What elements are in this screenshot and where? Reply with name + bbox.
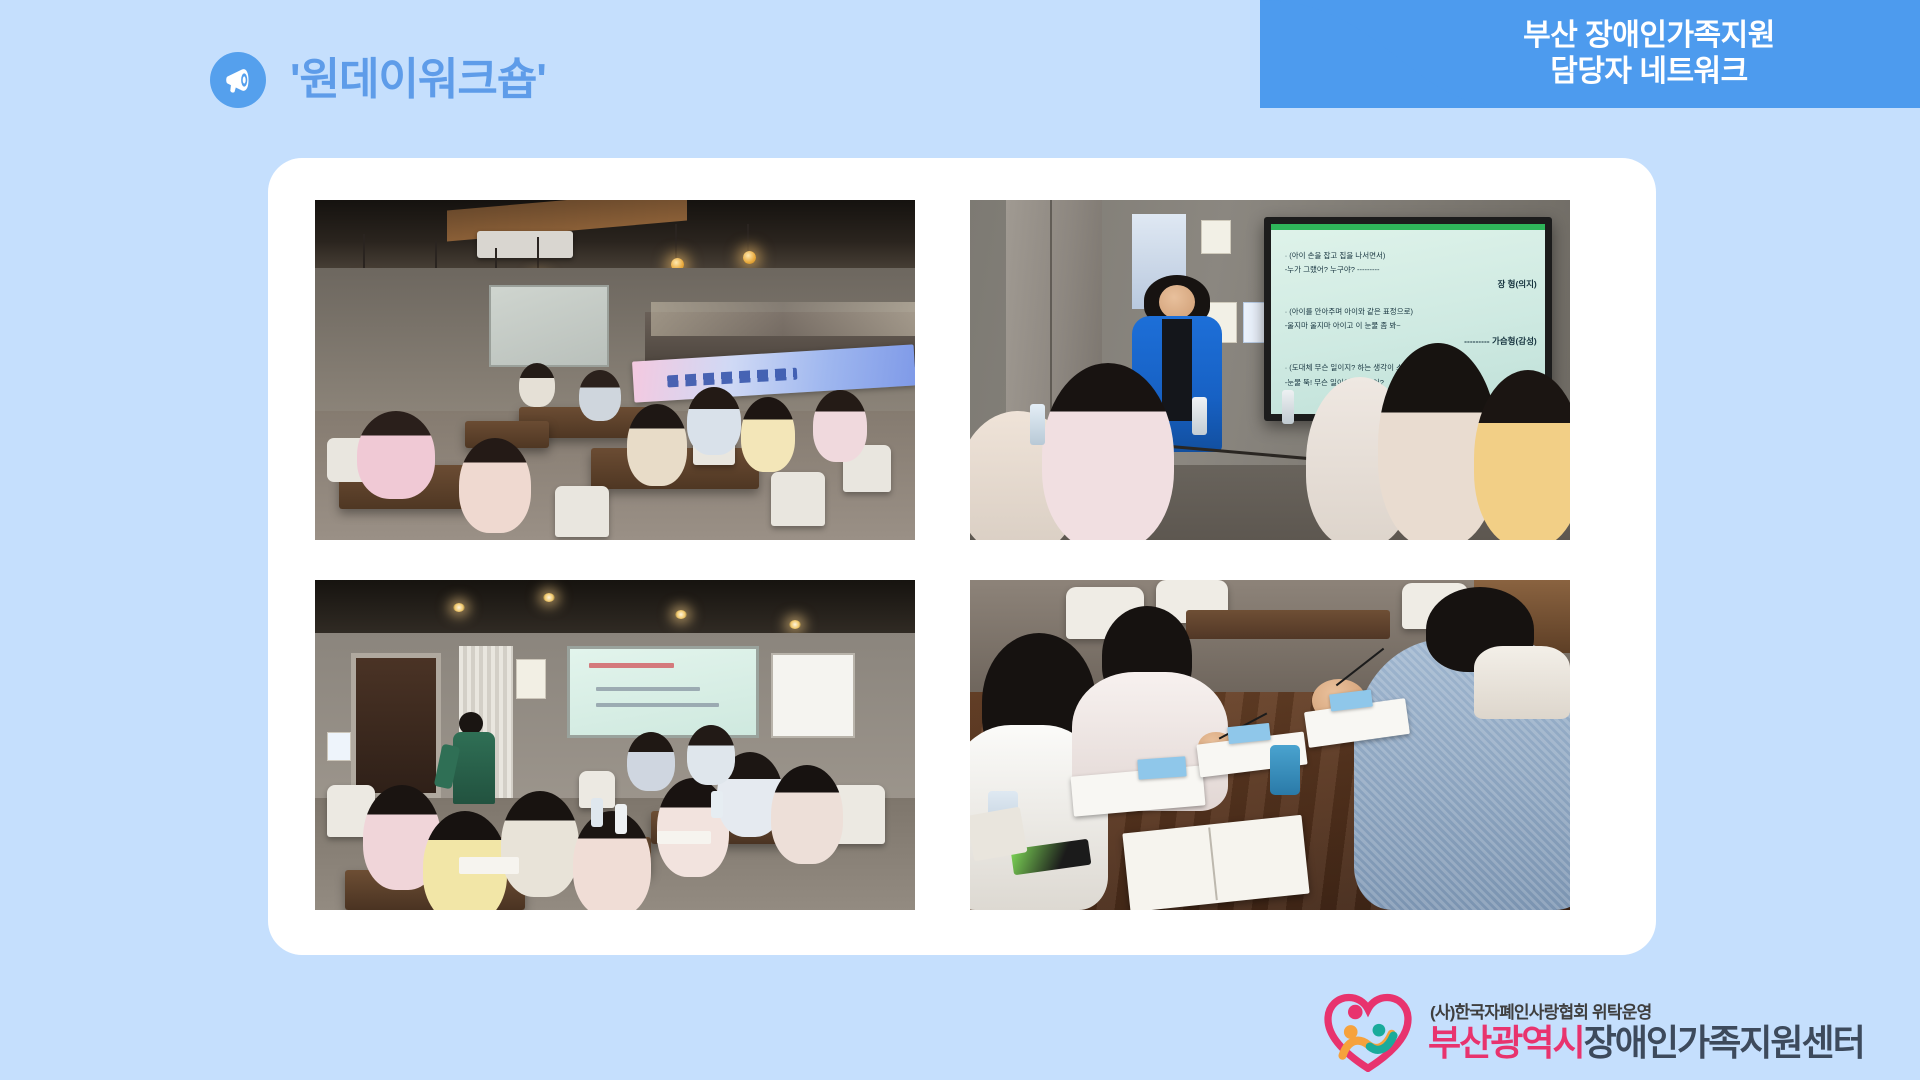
heart-family-logo-icon — [1322, 992, 1414, 1072]
workshop-photo-4[interactable]: 참가자들이 원목 테이블에서 포스트잇과 교재로 활동하는 근접 사진 — [970, 580, 1570, 910]
title-row: '원데이워크숍' — [210, 52, 546, 108]
photo-4-canvas — [970, 580, 1570, 910]
logo-city-text: 부산광역시 — [1428, 1022, 1584, 1063]
slide-line: --------- 가슴형(감성) — [1464, 336, 1537, 347]
logo-main-text: 부산광역시장애인가족지원센터 — [1428, 1025, 1864, 1061]
slide-root: 부산 장애인가족지원 담당자 네트워크 '원데이워크숍' — [0, 0, 1920, 1080]
slide-line: -누가 그랬어? 누구야? --------- — [1285, 265, 1537, 274]
content-card: 워크숍 전경 - 참가자들이 긴 테이블에 앉아 있는 카페형 공간 — [268, 158, 1656, 955]
photo-grid: 워크숍 전경 - 참가자들이 긴 테이블에 앉아 있는 카페형 공간 — [315, 200, 1609, 910]
photo-2-canvas: · (아이 손을 잡고 집을 나서면서) -누가 그랬어? 누구야? -----… — [970, 200, 1570, 540]
logo-text-block: (사)한국자폐인사랑협회 위탁운영 부산광역시장애인가족지원센터 — [1428, 1004, 1864, 1061]
header-banner — [1260, 0, 1920, 108]
slide-line: · (아이를 안아주며 아이와 같은 표정으로) — [1285, 307, 1537, 316]
slide-line: -울지마 울지마 아이고 이 눈물 좀 봐~ — [1285, 321, 1537, 330]
footer-logo: (사)한국자폐인사랑협회 위탁운영 부산광역시장애인가족지원센터 — [1322, 992, 1864, 1072]
page-title: '원데이워크숍' — [290, 58, 546, 102]
photo-3-projector-screen — [567, 646, 759, 738]
photo-1-canvas — [315, 200, 915, 540]
photo-3-canvas — [315, 580, 915, 910]
logo-center-text: 장애인가족지원센터 — [1584, 1022, 1864, 1063]
megaphone-icon — [210, 52, 266, 108]
slide-line: 장 형(의지) — [1497, 279, 1536, 290]
workshop-photo-1[interactable]: 워크숍 전경 - 참가자들이 긴 테이블에 앉아 있는 카페형 공간 — [315, 200, 915, 540]
logo-sub-text: (사)한국자폐인사랑협회 위탁운영 — [1430, 1004, 1864, 1021]
slide-line: · (아이 손을 잡고 집을 나서면서) — [1285, 251, 1537, 260]
workshop-photo-3[interactable]: 남성 강사가 스크린 앞에 서서 설명하고 참가자들이 경청하는 모습 — [315, 580, 915, 910]
workshop-photo-2[interactable]: · (아이 손을 잡고 집을 나서면서) -누가 그랬어? 누구야? -----… — [970, 200, 1570, 540]
